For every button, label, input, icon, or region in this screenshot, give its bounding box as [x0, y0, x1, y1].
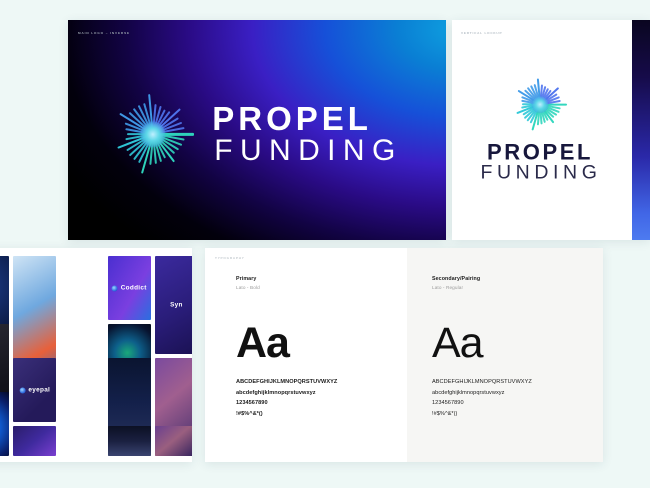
secondary-subtitle: Lato - Regular: [432, 285, 603, 290]
tile-label-text: Coddict: [121, 285, 147, 292]
hero-brand-line-2: FUNDING: [212, 135, 402, 167]
vertical-lockup-panel[interactable]: VERTICAL LOCKUP PROPEL FUNDING: [452, 20, 650, 240]
secondary-symbols: !#$%^&*(): [432, 409, 603, 419]
moodboard-panel[interactable]: ybitCoddictSyneyepal: [0, 248, 192, 462]
secondary-uppercase: ABCDEFGHIJKLMNOPQRSTUVWXYZ: [432, 377, 603, 387]
typography-column-primary: Primary Lato - Bold Aa ABCDEFGHIJKLMNOPQ…: [205, 248, 407, 462]
main-logo-panel[interactable]: MAIN LOGO – INVERSE PROPEL FUNDING: [68, 20, 446, 240]
vertical-caption: VERTICAL LOCKUP: [461, 31, 502, 35]
hero-caption: MAIN LOGO – INVERSE: [78, 31, 130, 35]
coddict-label: Coddict: [112, 285, 147, 292]
typography-columns: Primary Lato - Bold Aa ABCDEFGHIJKLMNOPQ…: [205, 248, 603, 462]
vertical-brand-line-2: FUNDING: [478, 163, 601, 184]
primary-specimen-glyph: Aa: [236, 325, 407, 362]
primary-title: Primary: [236, 276, 407, 282]
hero-brand-line-1: PROPEL: [212, 103, 402, 135]
hero-logo-lockup: PROPEL FUNDING: [68, 92, 446, 176]
primary-numerals: 1234567890: [236, 398, 407, 408]
tile-label-text: eyepal: [28, 387, 50, 394]
hero-wordmark: PROPEL FUNDING: [212, 101, 402, 167]
primary-symbols: !#$%^&*(): [236, 409, 407, 419]
secondary-numerals: 1234567890: [432, 398, 603, 408]
secondary-character-set: ABCDEFGHIJKLMNOPQRSTUVWXYZ abcdefghijklm…: [432, 377, 603, 418]
moodboard-grid: ybitCoddictSyneyepal: [0, 256, 192, 456]
primary-lowercase: abcdefghijklmnopqrstuvwxyz: [236, 388, 407, 398]
eyepal-label: eyepal: [19, 387, 50, 394]
starburst-mark: [111, 92, 195, 176]
abstract-tile[interactable]: [155, 426, 192, 456]
synth-label: Syn: [170, 302, 183, 309]
network-tile[interactable]: [0, 392, 9, 456]
s-logo-tile[interactable]: [13, 426, 56, 456]
vertical-brand-line-1: PROPEL: [478, 141, 601, 162]
eyepal-tile[interactable]: eyepal: [13, 358, 56, 422]
typography-panel[interactable]: TYPOGRAPHY Primary Lato - Bold Aa ABCDEF…: [205, 248, 603, 462]
coddict-tile[interactable]: Coddict: [108, 256, 151, 320]
synth-tile[interactable]: Syn: [155, 256, 192, 354]
vertical-wordmark: PROPEL FUNDING: [478, 141, 601, 183]
crosswalk-tile[interactable]: [108, 426, 151, 456]
secondary-title: Secondary/Pairing: [432, 276, 603, 282]
starburst-mark: [512, 76, 568, 132]
tile-label-text: Syn: [170, 302, 183, 309]
brand-board: MAIN LOGO – INVERSE PROPEL FUNDING VERTI…: [0, 0, 650, 488]
primary-subtitle: Lato - Bold: [236, 285, 407, 290]
vertical-logo-lockup: PROPEL FUNDING: [452, 76, 628, 183]
secondary-specimen-glyph: Aa: [432, 325, 603, 362]
brand-dot-icon: [112, 285, 118, 291]
gradient-edge-strip: [632, 20, 650, 240]
typography-column-secondary: Secondary/Pairing Lato - Regular Aa ABCD…: [407, 248, 603, 462]
primary-uppercase: ABCDEFGHIJKLMNOPQRSTUVWXYZ: [236, 377, 407, 387]
primary-character-set: ABCDEFGHIJKLMNOPQRSTUVWXYZ abcdefghijklm…: [236, 377, 407, 418]
secondary-lowercase: abcdefghijklmnopqrstuvwxyz: [432, 388, 603, 398]
brand-dot-icon: [19, 387, 25, 393]
